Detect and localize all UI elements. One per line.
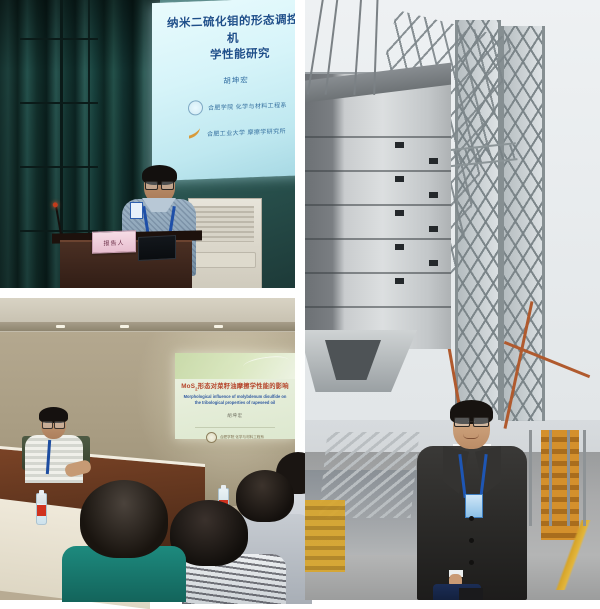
slide-org-1: 合肥学院 化学与材料工程系: [188, 96, 295, 115]
meeting-slide-title-rest: 形态对菜籽油摩擦学性能的影响: [198, 383, 289, 390]
slide-author: 胡坤宏: [168, 72, 295, 88]
audience-member-1: [62, 480, 182, 600]
slide-title-line1: 纳米二硫化钼的形态调控机: [167, 14, 295, 45]
meeting-slide-title-cn: MoS2形态对菜籽油摩擦学性能的影响: [180, 381, 290, 391]
meeting-presenter: [25, 410, 83, 480]
meeting-slide-content: MoS2形态对菜籽油摩擦学性能的影响 Morphological influen…: [175, 381, 295, 443]
university-seal-icon: [188, 100, 203, 116]
photo-crane-site: [305, 0, 600, 600]
presenter-glasses-icon: [42, 421, 65, 427]
ceiling-light-3: [214, 325, 223, 328]
crane-lattice-mast-2: [501, 26, 545, 421]
meeting-slide-title-en: Morphological influence of molybdenum di…: [180, 394, 290, 406]
yellow-floor-marking: [525, 520, 600, 590]
door-frame-right: [88, 0, 90, 268]
nameplate-text: 报告人: [103, 237, 124, 247]
safety-rail-2: [549, 430, 552, 526]
meeting-slide-org-text: 合肥学院 化学与材料工程系: [220, 435, 264, 440]
wall-rail-2: [20, 102, 98, 104]
swoosh-logo-icon: [188, 127, 202, 140]
speaker-glasses-icon: [145, 181, 174, 188]
mast-2-edge-right: [542, 26, 545, 421]
photo-collage: 纳米二硫化钼的形态调控机 学性能研究 胡坤宏 合肥学院 化学与材料工程系 合肥工…: [0, 0, 600, 600]
air-conditioner-panel: [192, 252, 256, 268]
mast-2-lattice: [501, 26, 545, 421]
subject-smile: [463, 434, 479, 439]
meeting-slide-org: 合肥学院 化学与材料工程系: [195, 427, 275, 443]
slide-header-decoration: [175, 353, 295, 379]
podium-nameplate: 报告人: [92, 230, 136, 254]
subject-leg: [459, 588, 483, 600]
audience-1-hair: [80, 480, 168, 558]
water-bottle-1: [36, 493, 47, 525]
projection-screen: 纳米二硫化钼的形态调控机 学性能研究 胡坤宏 合肥学院 化学与材料工程系 合肥工…: [152, 0, 295, 181]
coat-button-2: [469, 538, 474, 543]
meeting-room-ceiling: [0, 298, 295, 332]
crane-counterweight-stack: [305, 72, 451, 349]
speaker-badge: [130, 202, 143, 219]
crane-lifting-cables: [305, 0, 425, 90]
safety-rail-3: [567, 430, 570, 526]
university-seal-icon: [206, 432, 217, 443]
safety-rail-4: [583, 430, 586, 526]
coat-button-3: [469, 560, 474, 565]
slide-title: 纳米二硫化钼的形态调控机 学性能研究: [162, 12, 295, 66]
yellow-equipment: [305, 500, 345, 572]
meeting-slide-title-en-line2: the tribological properties of rapeseed …: [195, 400, 276, 405]
meeting-projection-screen: MoS2形态对菜籽油摩擦学性能的影响 Morphological influen…: [175, 353, 295, 439]
photo-lecture-hall: 纳米二硫化钼的形态调控机 学性能研究 胡坤宏 合肥学院 化学与材料工程系 合肥工…: [0, 0, 295, 288]
slide-org-2-text: 合肥工业大学 摩擦学研究所: [207, 125, 286, 137]
ceiling-light-1: [56, 325, 65, 328]
meeting-slide-author: 胡坤宏: [180, 413, 290, 419]
slide-org-1-text: 合肥学院 化学与材料工程系: [208, 100, 287, 112]
coat-button-1: [469, 516, 474, 521]
wall-rail-3: [20, 166, 98, 168]
laptop: [138, 235, 176, 261]
subject-id-badge: [465, 494, 483, 518]
site-portrait-subject: [413, 398, 531, 600]
ceiling-light-2: [120, 325, 129, 328]
subject-glasses-icon: [454, 417, 489, 425]
meeting-slide-title-prefix: MoS: [181, 383, 195, 390]
slide-org-2: 合肥工业大学 摩擦学研究所: [188, 123, 295, 139]
slide-content: 纳米二硫化钼的形态调控机 学性能研究 胡坤宏 合肥学院 化学与材料工程系 合肥工…: [152, 0, 295, 181]
wall-rail-1: [20, 38, 98, 40]
slide-title-line2: 学性能研究: [176, 45, 295, 65]
meeting-slide-title-en-line1: Morphological influence of molybdenum di…: [184, 394, 287, 399]
